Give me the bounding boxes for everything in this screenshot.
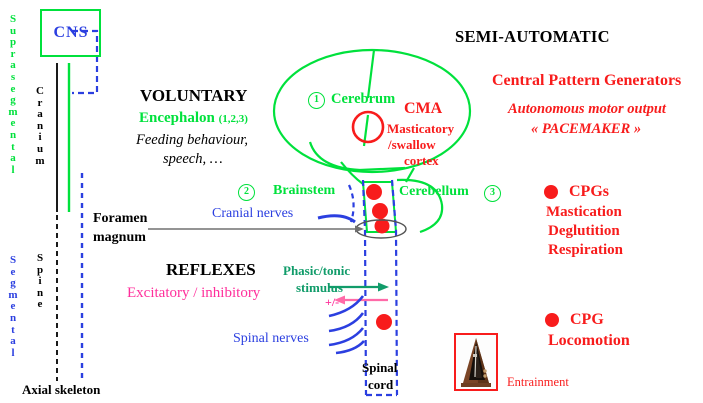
cpg-item-0: Mastication: [546, 204, 622, 221]
brainstem-nucleus-1: [366, 184, 382, 200]
cerebellum-stalk: [406, 168, 414, 182]
cranial-nerves-label: Cranial nerves: [212, 206, 293, 222]
brainstem-nucleus-2: [372, 203, 388, 219]
cerebellum-number-badge: 3: [484, 185, 501, 202]
cpg-bullet-title: CPGs: [569, 183, 609, 201]
axis-supra-segmental-label: Suprasegmental: [4, 14, 22, 176]
stimulus-line-2: stimulus: [296, 280, 343, 296]
spinal-nerve-root-2: [329, 313, 363, 331]
axis-cranium-label: Cranium: [31, 86, 49, 167]
diagram-canvas: CNS Suprasegmental Segmental Cranium Spi…: [0, 0, 703, 403]
encephalon-note: (1,2,3): [219, 113, 248, 125]
cpg-locomotion-bullet-dot: [545, 313, 559, 327]
cns-label: CNS: [45, 24, 97, 42]
cma-line-2: /swallow: [388, 137, 436, 153]
cpg-sub-line-1: Autonomous motor output: [508, 101, 666, 118]
brainstem-outline: [363, 182, 396, 232]
spinal-nerves-label: Spinal nerves: [233, 331, 309, 347]
cpg-item-2: Respiration: [548, 242, 623, 259]
cerebellum-label: Cerebellum: [399, 184, 469, 200]
semi-automatic-title: SEMI-AUTOMATIC: [455, 27, 610, 47]
reflexes-heading: REFLEXES: [166, 260, 256, 280]
spinal-nucleus: [376, 314, 392, 330]
cranial-nerve-solid: [318, 216, 355, 222]
foramen-magnum-line-2: magnum: [93, 230, 146, 246]
cpg-heading: Central Pattern Generators: [492, 72, 681, 90]
cerebrum-label: Cerebrum: [331, 91, 395, 108]
cma-line-3: cortex: [404, 153, 439, 169]
cma-line-1: Masticatory: [387, 121, 454, 137]
foramen-arrow-head: [355, 226, 364, 233]
brainstem-number-badge: 2: [238, 184, 255, 201]
cma-circle: [353, 112, 383, 142]
encephalon-row: Encephalon (1,2,3): [139, 110, 248, 127]
entrainment-label: Entrainment: [507, 375, 569, 390]
cpg-locomotion-sub: Locomotion: [548, 332, 630, 350]
cerebrum-sulcus-lower: [364, 115, 368, 146]
spinal-nerve-root-3: [329, 328, 363, 345]
metronome-icon: [456, 335, 496, 389]
axis-segmental-label: Segmental: [4, 255, 22, 359]
cpg-sub-line-2: « PACEMAKER »: [531, 121, 641, 138]
cerebrum-number-badge: 1: [308, 92, 325, 109]
cma-abbrev: CMA: [404, 100, 442, 118]
foramen-magnum-ellipse: [356, 220, 406, 238]
spinal-cord-line-1: Spinal: [362, 360, 397, 376]
voluntary-heading: VOLUNTARY: [140, 86, 247, 106]
axis-spine-label: Spine: [31, 253, 49, 311]
metronome-image-frame: [454, 333, 498, 391]
spinal-cord-line-2: cord: [368, 377, 393, 393]
cpg-bullet-dot: [544, 185, 558, 199]
brainstem-connector: [341, 162, 363, 184]
spinal-nerve-root-4: [336, 341, 364, 353]
voluntary-line-1: Feeding behaviour,: [136, 132, 248, 149]
reflexes-subtitle: Excitatory / inhibitory: [127, 285, 260, 302]
plus-minus-label: +/-: [325, 295, 339, 310]
brainstem-label: Brainstem: [273, 183, 335, 199]
axial-skeleton-label: Axial skeleton: [22, 382, 100, 398]
stimulus-arrow-head: [378, 283, 389, 292]
encephalon-label: Encephalon: [139, 110, 215, 126]
stimulus-line-1: Phasic/tonic: [283, 263, 350, 279]
voluntary-line-2: speech, …: [163, 151, 223, 168]
cpg-item-1: Deglutition: [548, 223, 620, 240]
brainstem-nucleus-3: [375, 219, 390, 234]
cranial-nerve-root-dashed: [349, 185, 354, 222]
cpg-locomotion-title: CPG: [570, 311, 604, 329]
foramen-magnum-line-1: Foramen: [93, 211, 147, 227]
